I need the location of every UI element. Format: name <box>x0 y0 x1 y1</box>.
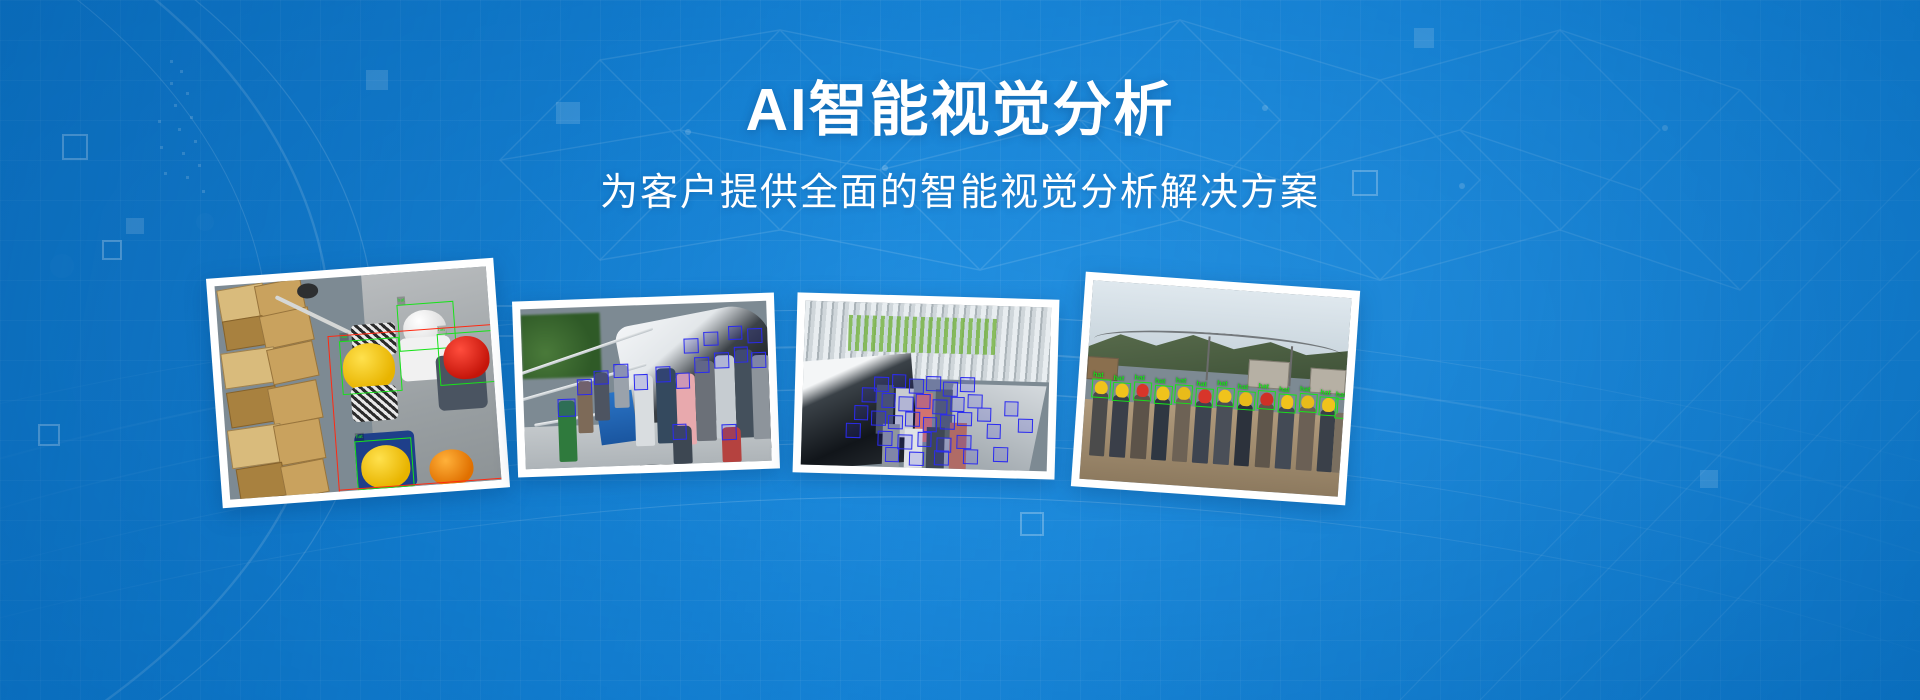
face-detection-box <box>909 451 924 466</box>
hat-detection-box: hat <box>1112 381 1131 402</box>
face-detection-box <box>917 432 932 447</box>
face-detection-box <box>613 363 628 378</box>
photo-card-warehouse-helmet-detection[interactable]: hat hat hat hat <box>206 258 510 508</box>
face-detection-box <box>933 399 948 414</box>
face-detection-box <box>871 411 886 426</box>
face-detection-box <box>558 399 576 417</box>
face-detection-box <box>577 379 592 396</box>
face-detection-box <box>684 338 699 353</box>
face-detection-box <box>905 412 920 427</box>
hat-detection-label: hat <box>1237 383 1248 392</box>
hat-detection-box: hat <box>1195 387 1214 408</box>
hat-detection-box: hat <box>1236 390 1255 411</box>
face-detection-box <box>957 411 972 426</box>
face-detection-box <box>594 370 609 385</box>
hat-detection-box: hat <box>1298 392 1317 413</box>
face-detection-box <box>884 447 899 462</box>
photo-card-outdoor-hat-detection[interactable]: hat hat hat hat <box>1071 272 1360 506</box>
face-detection-box <box>940 414 955 429</box>
face-detection-box <box>881 393 896 408</box>
hat-detection-box: hat <box>1257 389 1276 410</box>
face-detection-box <box>891 374 906 389</box>
hat-detection-label: hat <box>1196 380 1207 389</box>
face-detection-box <box>862 387 877 402</box>
face-detection-box <box>934 450 949 465</box>
face-detection-box <box>963 449 978 464</box>
face-detection-box <box>1004 401 1019 416</box>
face-detection-box <box>751 352 766 369</box>
face-detection-box <box>846 423 861 438</box>
page-title: AI智能视觉分析 <box>0 78 1920 143</box>
photo-outdoor-hat-detection: hat hat hat hat <box>1079 280 1351 497</box>
hat-detection-box: hat <box>1334 399 1352 420</box>
hat-detection-box: hat <box>1216 387 1235 408</box>
face-detection-box <box>714 352 729 369</box>
face-detection-box <box>916 394 931 409</box>
face-detection-box <box>993 447 1008 462</box>
face-detection-box <box>878 431 893 446</box>
platform-canopy-glass <box>848 315 997 355</box>
face-detection-box <box>950 397 965 412</box>
face-detection-box <box>633 374 648 391</box>
hat-detection-label: hat <box>1134 374 1145 383</box>
photo-platform-crowd-detection <box>801 301 1051 472</box>
face-detection-box <box>960 377 975 392</box>
hat-detection-label: hat <box>1335 392 1346 401</box>
banner-headings: AI智能视觉分析 为客户提供全面的智能视觉分析解决方案 <box>0 78 1920 216</box>
hero-banner: AI智能视觉分析 为客户提供全面的智能视觉分析解决方案 <box>0 0 1920 700</box>
photo-station-face-detection <box>520 301 771 469</box>
face-detection-box <box>986 424 1001 439</box>
hat-detection-box: hat <box>1092 378 1111 399</box>
hat-detection-box: hat <box>1133 381 1152 402</box>
hat-detection-box: hat <box>1277 393 1296 414</box>
face-detection-box <box>675 372 690 389</box>
hat-detection-label: hat <box>1320 389 1331 398</box>
face-detection-box <box>943 382 958 397</box>
hat-detection-label: hat <box>1155 377 1166 386</box>
photo-card-platform-crowd-detection[interactable] <box>793 292 1060 479</box>
face-detection-box <box>956 434 971 449</box>
face-detection-box <box>655 367 670 384</box>
hat-detection-label: hat <box>1258 383 1269 392</box>
face-detection-box <box>922 417 937 432</box>
hat-detection-label: hat <box>1093 371 1104 380</box>
face-detection-box <box>728 326 743 341</box>
face-detection-box <box>898 397 913 412</box>
face-detection-box <box>909 379 924 394</box>
photo-warehouse-helmet-detection: hat hat hat hat <box>215 266 502 499</box>
face-detection-box <box>888 414 903 429</box>
restricted-zone-polygon <box>327 324 501 500</box>
face-detection-box <box>694 357 709 374</box>
hat-detection-box: hat <box>1153 384 1172 405</box>
page-subtitle: 为客户提供全面的智能视觉分析解决方案 <box>0 171 1920 217</box>
face-detection-box <box>733 346 748 363</box>
detection-label-1: hat <box>396 296 406 305</box>
face-detection-box <box>977 407 992 422</box>
face-detection-box <box>1018 418 1033 433</box>
face-detection-box <box>672 424 687 441</box>
outdoor-person <box>1332 413 1352 474</box>
face-detection-box <box>703 331 718 346</box>
face-detection-box <box>854 405 869 420</box>
hat-detection-label: hat <box>1113 374 1124 383</box>
hat-detection-label: hat <box>1217 380 1228 389</box>
hat-detection-box: hat <box>1174 384 1193 405</box>
hat-detection-label: hat <box>1176 377 1187 386</box>
photo-card-station-face-detection[interactable] <box>512 292 780 477</box>
face-detection-box <box>721 423 736 440</box>
hat-detection-label: hat <box>1279 386 1290 395</box>
hat-detection-label: hat <box>1300 385 1311 394</box>
face-detection-box <box>926 376 941 391</box>
face-detection-box <box>747 328 762 343</box>
